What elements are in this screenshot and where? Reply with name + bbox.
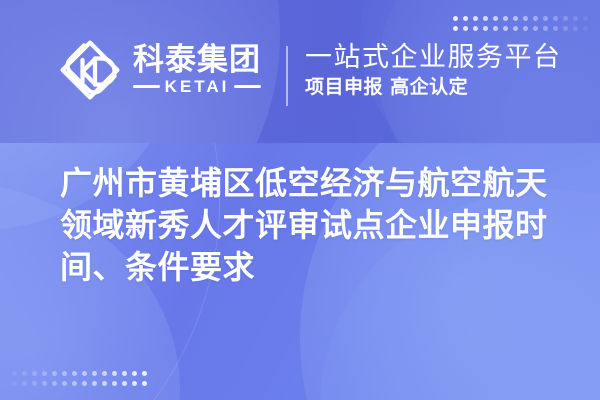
dot (62, 381, 67, 386)
dot (553, 26, 558, 31)
dot (583, 26, 588, 31)
dot (62, 371, 67, 376)
dot (122, 381, 127, 386)
dot (32, 371, 37, 376)
dot (553, 16, 558, 21)
dot (42, 381, 47, 386)
dot (142, 381, 147, 386)
brand-logo[interactable]: 科泰集团 KETAI (58, 38, 261, 102)
dot (563, 16, 568, 21)
dot (493, 26, 498, 31)
dot (523, 16, 528, 21)
dot (583, 16, 588, 21)
dot (573, 26, 578, 31)
dot-row (12, 371, 147, 376)
dot (112, 381, 117, 386)
wordmark-rule-right (234, 85, 261, 88)
dot (573, 16, 578, 21)
dot (52, 381, 57, 386)
page-title-line: 间、条件要求 (60, 246, 552, 288)
brand-name-cn: 科泰集团 (133, 45, 261, 76)
brand-name-en: KETAI (165, 78, 230, 95)
dot (32, 381, 37, 386)
dot (132, 381, 137, 386)
dot-grid-bottom-left (12, 371, 147, 386)
dot-row (453, 26, 588, 31)
tagline-primary: 一站式企业服务平台 (305, 44, 562, 72)
page-title-line: 广州市黄埔区低空经济与航空航天 (60, 162, 552, 204)
dot-row (12, 381, 147, 386)
dot (483, 26, 488, 31)
page-title: 广州市黄埔区低空经济与航空航天 领域新秀人才评审试点企业申报时 间、条件要求 (60, 162, 552, 288)
dot-row (453, 16, 588, 21)
dot (22, 381, 27, 386)
dot (543, 26, 548, 31)
dot-grid-top-right (453, 16, 588, 31)
dot (132, 371, 137, 376)
dot (533, 26, 538, 31)
dot (483, 16, 488, 21)
dot (513, 26, 518, 31)
dot (92, 371, 97, 376)
brand-name-en-row: KETAI (133, 78, 261, 95)
header-divider (286, 46, 288, 106)
dot (563, 26, 568, 31)
dot (52, 371, 57, 376)
dot (112, 371, 117, 376)
dot (463, 26, 468, 31)
ketai-diamond-kd-logo-icon (58, 38, 122, 102)
dot (12, 371, 17, 376)
dot (102, 381, 107, 386)
page-title-line: 领域新秀人才评审试点企业申报时 (60, 204, 552, 246)
dot (463, 16, 468, 21)
dot (543, 16, 548, 21)
wordmark-rule-left (133, 85, 160, 88)
dot (42, 371, 47, 376)
dot (493, 16, 498, 21)
dot (513, 16, 518, 21)
dot (503, 26, 508, 31)
dot (122, 371, 127, 376)
dot (12, 381, 17, 386)
dot (82, 381, 87, 386)
dot (22, 371, 27, 376)
header-tagline: 一站式企业服务平台 项目申报 高企认定 (305, 44, 562, 98)
dot (473, 26, 478, 31)
dot (523, 26, 528, 31)
dot (533, 16, 538, 21)
tagline-secondary: 项目申报 高企认定 (305, 78, 562, 98)
dot (453, 26, 458, 31)
dot (92, 381, 97, 386)
dot (503, 16, 508, 21)
promo-banner: 科泰集团 KETAI 一站式企业服务平台 项目申报 高企认定 广州市黄埔区低空经… (0, 0, 600, 400)
dot (72, 371, 77, 376)
dot (72, 381, 77, 386)
brand-wordmark: 科泰集团 KETAI (133, 45, 261, 95)
dot (82, 371, 87, 376)
dot (102, 371, 107, 376)
dot (453, 16, 458, 21)
dot (473, 16, 478, 21)
dot (142, 371, 147, 376)
